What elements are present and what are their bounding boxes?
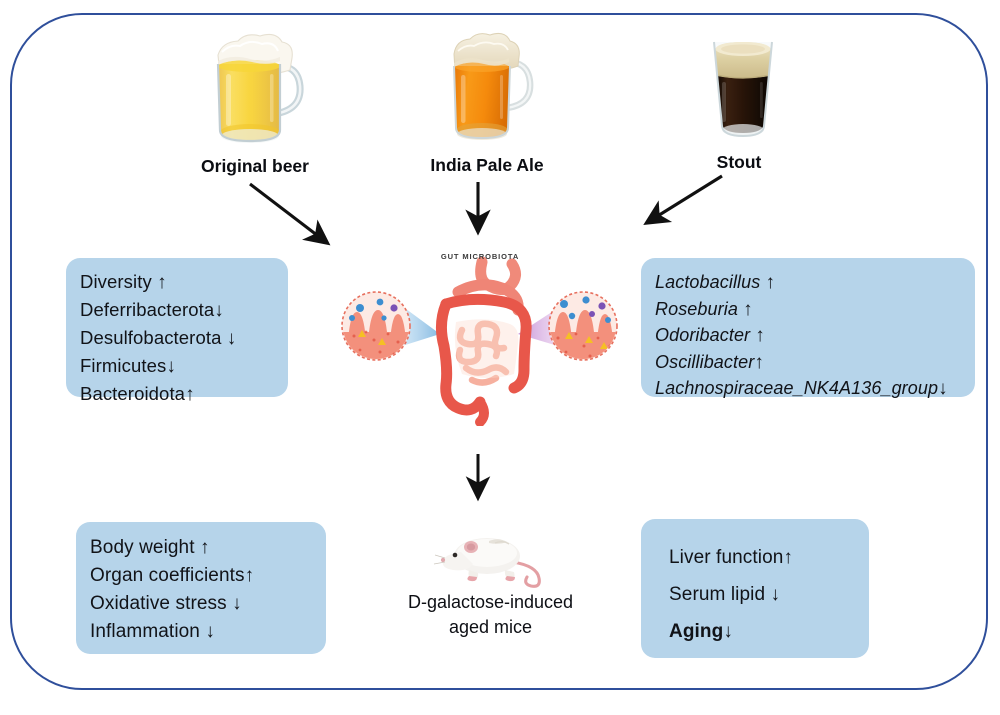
list-item: Inflammation ↓: [90, 618, 312, 646]
trend-arrow-up: ↑: [157, 272, 167, 293]
beverage-label-india-pale-ale: India Pale Ale: [417, 155, 557, 176]
beer-mug-lager-icon: [200, 22, 320, 150]
metric-label: Aging: [669, 621, 723, 642]
metric-label: Bacteroidota: [80, 383, 185, 404]
genus-label: Oscillibacter: [655, 352, 754, 372]
stout-glass-icon: [700, 18, 786, 150]
arrow-microbiota-to-mouse: [455, 452, 501, 510]
box-physiological-indicators: Body weight ↑ Organ coefficients↑ Oxidat…: [76, 522, 326, 654]
trend-arrow-up: ↑: [754, 352, 764, 373]
list-item: Firmicutes↓: [80, 353, 274, 381]
trend-arrow-down: ↓: [938, 378, 948, 399]
list-item: Organ coefficients↑: [90, 562, 312, 590]
list-item: Odoribacter ↑: [655, 323, 961, 350]
animal-model-caption-line1: D-galactose-induced: [408, 592, 573, 612]
arrow-original-beer-to-microbiota: [240, 178, 345, 256]
genus-label: Odoribacter: [655, 325, 750, 345]
metric-label: Inflammation: [90, 621, 200, 642]
metric-label: Desulfobacterota: [80, 327, 221, 348]
trend-arrow-up: ↑: [200, 537, 210, 558]
animal-model-caption-line2: aged mice: [449, 617, 532, 637]
list-item: Roseburia ↑: [655, 297, 961, 324]
beer-mug-amber-icon: [440, 20, 540, 152]
arrow-ipa-to-microbiota: [455, 178, 501, 244]
laboratory-mouse-icon: [425, 522, 550, 588]
villi-magnifier-left: [342, 292, 410, 362]
trend-arrow-down: ↓: [205, 621, 215, 642]
trend-arrow-down: ↓: [771, 584, 781, 605]
list-item: Liver function↑: [669, 539, 869, 576]
metric-label: Diversity: [80, 271, 152, 292]
metric-label: Body weight: [90, 537, 195, 558]
genus-label: Lachnospiraceae_NK4A136_group: [655, 378, 938, 398]
list-item: Lactobacillus ↑: [655, 270, 961, 297]
metric-label: Oxidative stress: [90, 593, 227, 614]
trend-arrow-up: ↑: [185, 384, 195, 405]
list-item: Oxidative stress ↓: [90, 590, 312, 618]
list-item: Body weight ↑: [90, 534, 312, 562]
metric-label: Deferribacterota: [80, 299, 214, 320]
trend-arrow-up: ↑: [765, 272, 775, 293]
box-differential-genera: Lactobacillus ↑ Roseburia ↑ Odoribacter …: [641, 258, 975, 397]
graphical-abstract-canvas: Original beer India Pale Ale Stout: [0, 0, 1000, 715]
metric-label: Firmicutes: [80, 355, 166, 376]
list-item: Desulfobacterota ↓: [80, 325, 274, 353]
trend-arrow-down: ↓: [227, 328, 237, 349]
trend-arrow-up: ↑: [755, 325, 765, 346]
metric-label: Serum lipid: [669, 584, 765, 605]
genus-label: Roseburia: [655, 299, 738, 319]
box-health-outcomes: Liver function↑ Serum lipid ↓ Aging↓: [641, 519, 869, 658]
metric-label: Liver function: [669, 547, 783, 568]
list-item: Lachnospiraceae_NK4A136_group↓: [655, 376, 961, 403]
list-item: Aging↓: [669, 613, 869, 650]
gut-microbiota-caption: GUT MICROBIOTA: [415, 252, 545, 261]
metric-label: Organ coefficients: [90, 565, 245, 586]
trend-arrow-up: ↑: [245, 565, 255, 586]
list-item: Serum lipid ↓: [669, 576, 869, 613]
trend-arrow-up: ↑: [743, 299, 753, 320]
genus-label: Lactobacillus: [655, 272, 760, 292]
villi-magnifier-right: [549, 292, 617, 362]
list-item: Diversity ↑: [80, 269, 274, 297]
list-item: Bacteroidota↑: [80, 381, 274, 409]
box-microbiota-diversity: Diversity ↑ Deferribacterota↓ Desulfobac…: [66, 258, 288, 397]
trend-arrow-down: ↓: [232, 593, 242, 614]
trend-arrow-down: ↓: [166, 356, 176, 377]
arrow-stout-to-genera: [630, 170, 735, 238]
list-item: Oscillibacter↑: [655, 350, 961, 377]
animal-model-caption: D-galactose-induced aged mice: [368, 590, 613, 640]
trend-arrow-down: ↓: [214, 300, 224, 321]
trend-arrow-up: ↑: [783, 547, 793, 568]
digestive-tract-icon: [340, 246, 620, 426]
beverage-label-original-beer: Original beer: [190, 156, 320, 177]
list-item: Deferribacterota↓: [80, 297, 274, 325]
trend-arrow-down: ↓: [723, 621, 733, 642]
